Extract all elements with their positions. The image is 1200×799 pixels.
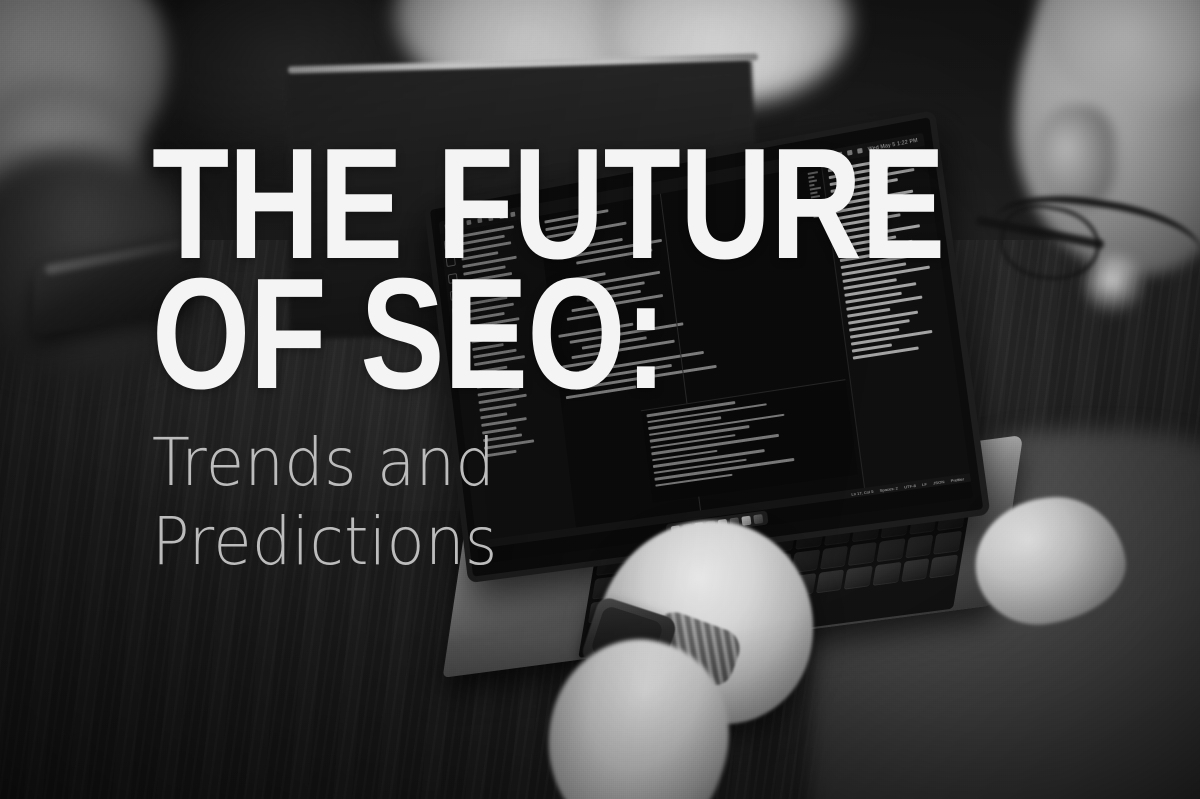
keyboard-key (933, 531, 962, 555)
keyboard-key (876, 538, 905, 562)
status-position: Ln 17, Col 5 (851, 488, 874, 496)
status-language: JSON (933, 478, 945, 485)
status-spaces: Spaces: 2 (879, 485, 898, 493)
status-formatter: Prettier (950, 476, 964, 483)
keyboard-key (872, 562, 901, 586)
keyboard-key (848, 542, 877, 566)
panel-row (851, 330, 933, 346)
keyboard-key (929, 554, 958, 578)
keyboard-key (901, 558, 930, 582)
page-title: THE FUTURE OF SEO: (152, 140, 712, 399)
subtitle-line-1: Trends and (152, 423, 810, 502)
poster-canvas: Wed May 5 1:22 PM (0, 0, 1200, 799)
subject-ear (1035, 105, 1115, 210)
title-overlay: THE FUTURE OF SEO: Trends and Prediction… (152, 140, 852, 581)
keyboard-key (905, 534, 934, 558)
page-subtitle: Trends and Predictions (152, 399, 810, 581)
status-encoding: UTF-8 (904, 482, 916, 489)
subtitle-line-2: Predictions (152, 502, 810, 581)
headline-line-2: OF SEO: (152, 270, 712, 400)
status-eol: LF (922, 481, 928, 487)
